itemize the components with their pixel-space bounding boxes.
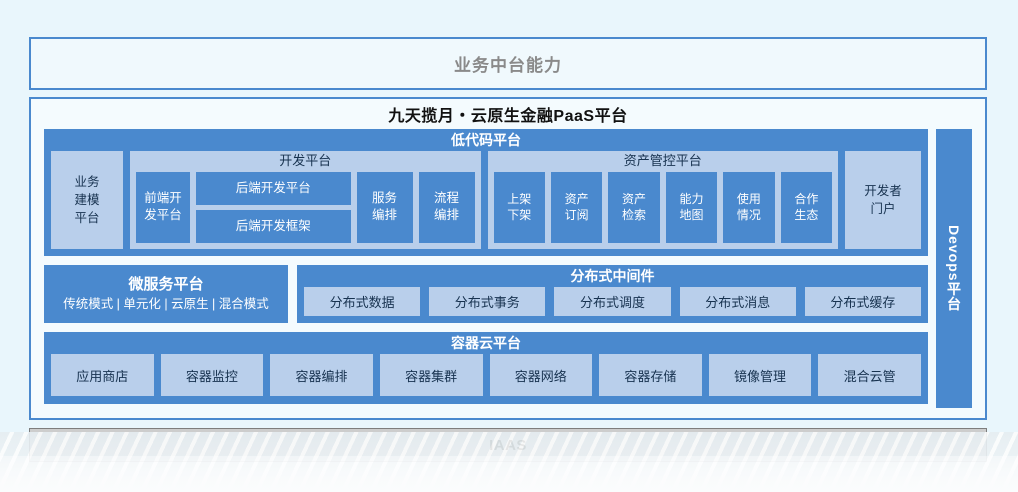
- cloud-tile-storage[interactable]: 容器存储: [599, 354, 702, 396]
- dev-platform-tiles: 前端开发平台 后端开发平台 后端开发框架 服务编排 流程编排: [136, 172, 475, 243]
- cloud-tile-cluster[interactable]: 容器集群: [380, 354, 483, 396]
- asset-tile-subscription[interactable]: 资产订阅: [551, 172, 602, 243]
- asset-tile-ecosystem[interactable]: 合作生态: [781, 172, 832, 243]
- cloud-tile-orchestration[interactable]: 容器编排: [270, 354, 373, 396]
- paas-platform-panel: 九天揽月・云原生金融PaaS平台 低代码平台 业务建模平台 开发平台 前端开发平…: [29, 97, 987, 420]
- service-orchestration-tile[interactable]: 服务编排: [357, 172, 413, 243]
- business-middle-platform-label: 业务中台能力: [454, 51, 562, 76]
- microservice-platform-group: 微服务平台 传统模式 | 单元化 | 云原生 | 混合模式: [44, 265, 288, 323]
- paas-platform-title: 九天揽月・云原生金融PaaS平台: [31, 99, 985, 129]
- lowcode-platform-row: 业务建模平台 开发平台 前端开发平台 后端开发平台 后端开发框架 服务编排 流: [51, 151, 921, 249]
- background-watermark-fade: [0, 456, 1018, 492]
- backend-tiles-stack: 后端开发平台 后端开发框架: [196, 172, 351, 243]
- diagram-canvas: 业务中台能力 九天揽月・云原生金融PaaS平台 低代码平台 业务建模平台 开发平…: [0, 0, 1018, 492]
- paas-layers-column: 低代码平台 业务建模平台 开发平台 前端开发平台 后端开发平台 后端开发框架: [44, 129, 928, 408]
- microservice-platform-title: 微服务平台: [128, 276, 203, 295]
- lowcode-platform-group: 低代码平台 业务建模平台 开发平台 前端开发平台 后端开发平台 后端开发框架: [44, 129, 928, 256]
- asset-platform-header: 资产管控平台: [494, 151, 833, 171]
- devops-platform-sidebar[interactable]: Devops平台: [936, 129, 972, 408]
- cloud-tile-network[interactable]: 容器网络: [490, 354, 593, 396]
- asset-platform-subpanel: 资产管控平台 上架下架 资产订阅 资产检索 能力地图 使用情况 合作生态: [488, 151, 839, 249]
- backend-dev-framework-tile[interactable]: 后端开发框架: [196, 210, 351, 243]
- container-cloud-header: 容器云平台: [51, 332, 921, 354]
- dev-platform-header: 开发平台: [136, 151, 475, 171]
- business-middle-platform-band: 业务中台能力: [29, 37, 987, 90]
- middleware-tile-transaction[interactable]: 分布式事务: [429, 287, 545, 316]
- cloud-tile-monitoring[interactable]: 容器监控: [161, 354, 264, 396]
- distributed-middleware-header: 分布式中间件: [304, 265, 921, 287]
- container-cloud-tiles: 应用商店 容器监控 容器编排 容器集群 容器网络 容器存储 镜像管理 混合云管: [51, 354, 921, 396]
- middleware-tile-cache[interactable]: 分布式缓存: [805, 287, 921, 316]
- business-modeling-platform-tile[interactable]: 业务建模平台: [51, 151, 123, 249]
- backend-dev-platform-tile[interactable]: 后端开发平台: [196, 172, 351, 205]
- distributed-middleware-tiles: 分布式数据 分布式事务 分布式调度 分布式消息 分布式缓存: [304, 287, 921, 316]
- middleware-tile-messaging[interactable]: 分布式消息: [680, 287, 796, 316]
- dev-platform-subpanel: 开发平台 前端开发平台 后端开发平台 后端开发框架 服务编排 流程编排: [130, 151, 481, 249]
- middleware-tile-scheduling[interactable]: 分布式调度: [554, 287, 670, 316]
- cloud-tile-app-store[interactable]: 应用商店: [51, 354, 154, 396]
- asset-platform-tiles: 上架下架 资产订阅 资产检索 能力地图 使用情况 合作生态: [494, 172, 833, 243]
- middleware-tile-data[interactable]: 分布式数据: [304, 287, 420, 316]
- microservice-middleware-row: 微服务平台 传统模式 | 单元化 | 云原生 | 混合模式 分布式中间件 分布式…: [44, 265, 928, 323]
- devops-platform-label: Devops平台: [944, 225, 964, 312]
- asset-tile-listing[interactable]: 上架下架: [494, 172, 545, 243]
- microservice-platform-modes: 传统模式 | 单元化 | 云原生 | 混合模式: [63, 296, 269, 312]
- asset-tile-usage[interactable]: 使用情况: [723, 172, 774, 243]
- container-cloud-group: 容器云平台 应用商店 容器监控 容器编排 容器集群 容器网络 容器存储 镜像管理…: [44, 332, 928, 404]
- cloud-tile-image-mgmt[interactable]: 镜像管理: [709, 354, 812, 396]
- process-orchestration-tile[interactable]: 流程编排: [419, 172, 475, 243]
- distributed-middleware-group: 分布式中间件 分布式数据 分布式事务 分布式调度 分布式消息 分布式缓存: [297, 265, 928, 323]
- developer-portal-tile[interactable]: 开发者门户: [845, 151, 921, 249]
- frontend-dev-platform-tile[interactable]: 前端开发平台: [136, 172, 190, 243]
- cloud-tile-hybrid-cloud[interactable]: 混合云管: [818, 354, 921, 396]
- lowcode-platform-header: 低代码平台: [51, 129, 921, 151]
- asset-tile-search[interactable]: 资产检索: [608, 172, 659, 243]
- asset-tile-capability-map[interactable]: 能力地图: [666, 172, 717, 243]
- paas-platform-body: 低代码平台 业务建模平台 开发平台 前端开发平台 后端开发平台 后端开发框架: [44, 129, 972, 408]
